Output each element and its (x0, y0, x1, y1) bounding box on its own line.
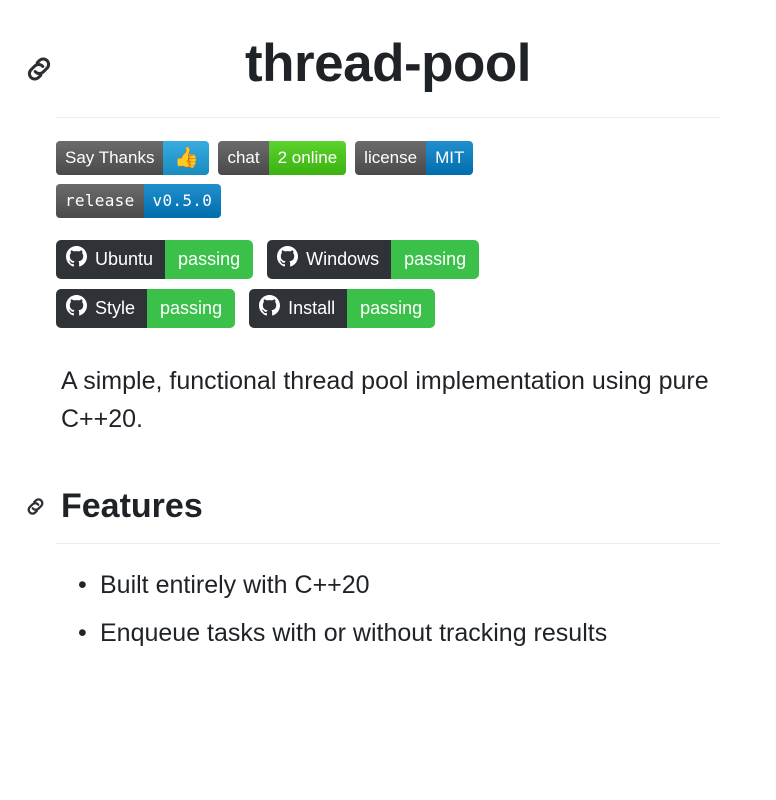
badge-chat-label: chat (218, 141, 268, 175)
workflow-style-label: Style (95, 298, 135, 319)
workflow-ubuntu-label: Ubuntu (95, 249, 153, 270)
workflow-install-label: Install (288, 298, 335, 319)
readme-page: thread-pool Say Thanks 👍 chat 2 online l… (0, 0, 776, 800)
workflow-badge-install[interactable]: Install passing (249, 289, 435, 328)
workflow-row-1: Ubuntu passing Windows passing (56, 240, 720, 279)
workflow-badge-style[interactable]: Style passing (56, 289, 235, 328)
list-item: Enqueue tasks with or without tracking r… (100, 614, 700, 652)
badge-chat-value: 2 online (269, 141, 347, 175)
workflow-badge-group: Ubuntu passing Windows passing (56, 227, 720, 328)
page-title: thread-pool (56, 34, 720, 95)
workflow-windows-label: Windows (306, 249, 379, 270)
workflow-badge-windows[interactable]: Windows passing (267, 240, 479, 279)
list-item: Built entirely with C++20 (100, 566, 700, 604)
github-icon (277, 246, 298, 272)
workflow-ubuntu-left: Ubuntu (56, 240, 165, 279)
workflow-windows-status: passing (391, 240, 479, 279)
badge-license-label: license (355, 141, 426, 175)
badge-release[interactable]: release v0.5.0 (56, 184, 221, 218)
title-block: thread-pool (56, 0, 720, 95)
workflow-row-2: Style passing Install passing (56, 289, 720, 328)
badge-row-2: release v0.5.0 (56, 184, 720, 218)
workflow-ubuntu-status: passing (165, 240, 253, 279)
workflow-style-status: passing (147, 289, 235, 328)
features-heading: Features (61, 486, 720, 527)
features-heading-text: Features (61, 486, 203, 527)
workflow-install-left: Install (249, 289, 347, 328)
workflow-install-status: passing (347, 289, 435, 328)
workflow-windows-left: Windows (267, 240, 391, 279)
thumbs-up-icon: 👍 (163, 141, 209, 175)
intro-paragraph: A simple, functional thread pool impleme… (61, 362, 720, 438)
badge-chat[interactable]: chat 2 online (218, 141, 346, 175)
link-icon[interactable] (22, 493, 49, 520)
badge-row-1: Say Thanks 👍 chat 2 online license MIT (56, 141, 720, 175)
workflow-badge-ubuntu[interactable]: Ubuntu passing (56, 240, 253, 279)
badge-release-value: v0.5.0 (144, 184, 222, 218)
badge-license[interactable]: license MIT (355, 141, 473, 175)
badge-say-thanks-label: Say Thanks (56, 141, 163, 175)
github-icon (66, 246, 87, 272)
github-icon (259, 295, 280, 321)
badge-say-thanks[interactable]: Say Thanks 👍 (56, 141, 209, 175)
link-icon[interactable] (20, 50, 58, 88)
badge-release-label: release (56, 184, 144, 218)
features-list: Built entirely with C++20 Enqueue tasks … (56, 566, 720, 652)
features-divider (56, 543, 720, 544)
workflow-style-left: Style (56, 289, 147, 328)
badge-group: Say Thanks 👍 chat 2 online license MIT r… (56, 118, 720, 218)
github-icon (66, 295, 87, 321)
badge-license-value: MIT (426, 141, 473, 175)
